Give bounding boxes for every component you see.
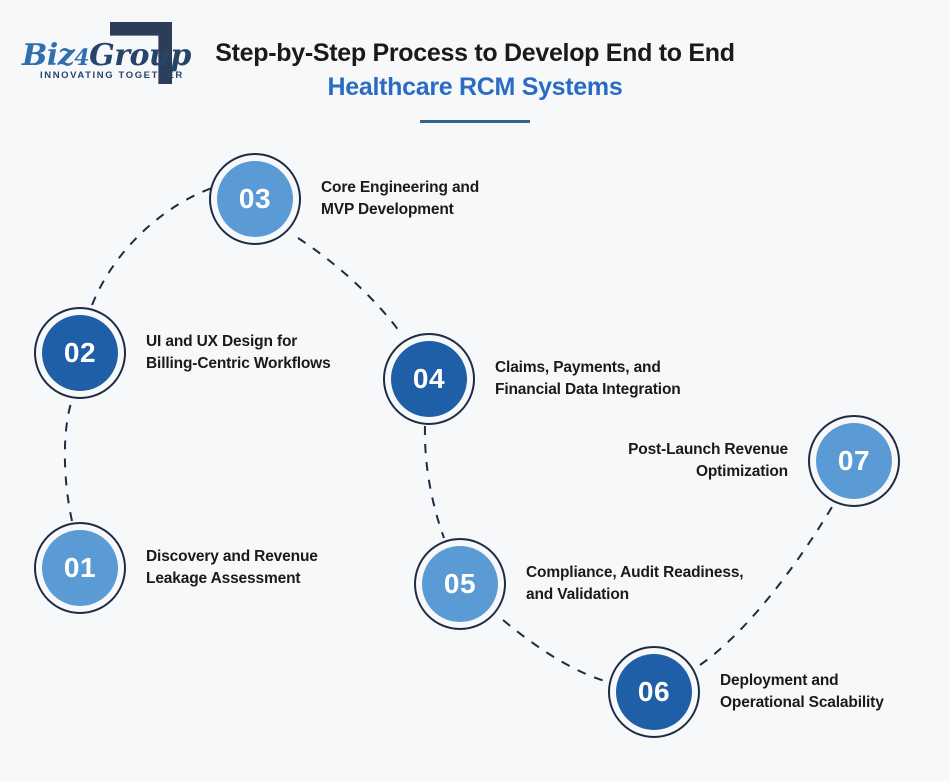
- step-05[interactable]: 05Compliance, Audit Readiness, and Valid…: [414, 538, 743, 630]
- step-circle-07[interactable]: 07: [808, 415, 900, 507]
- step-01[interactable]: 01Discovery and Revenue Leakage Assessme…: [34, 522, 318, 614]
- step-03[interactable]: 03Core Engineering and MVP Development: [209, 153, 479, 245]
- step-number-06: 06: [616, 654, 692, 730]
- step-circle-06[interactable]: 06: [608, 646, 700, 738]
- step-number-07: 07: [816, 423, 892, 499]
- connector-01-to-02: [65, 400, 72, 521]
- step-circle-05[interactable]: 05: [414, 538, 506, 630]
- step-circle-02[interactable]: 02: [34, 307, 126, 399]
- infographic-canvas: Biz4Group INNOVATING TOGETHER Step-by-St…: [0, 0, 950, 781]
- step-label-06: Deployment and Operational Scalability: [720, 670, 884, 714]
- step-04[interactable]: 04Claims, Payments, and Financial Data I…: [383, 333, 681, 425]
- step-label-07: Post-Launch Revenue Optimization: [628, 439, 788, 483]
- step-number-01: 01: [42, 530, 118, 606]
- step-02[interactable]: 02UI and UX Design for Billing-Centric W…: [34, 307, 331, 399]
- step-label-02: UI and UX Design for Billing-Centric Wor…: [146, 331, 331, 375]
- step-07[interactable]: 07Post-Launch Revenue Optimization: [628, 415, 900, 507]
- step-label-05: Compliance, Audit Readiness, and Validat…: [526, 562, 743, 606]
- step-06[interactable]: 06Deployment and Operational Scalability: [608, 646, 884, 738]
- connector-02-to-03: [92, 188, 212, 305]
- step-circle-01[interactable]: 01: [34, 522, 126, 614]
- step-number-02: 02: [42, 315, 118, 391]
- step-label-03: Core Engineering and MVP Development: [321, 177, 479, 221]
- step-number-04: 04: [391, 341, 467, 417]
- step-circle-03[interactable]: 03: [209, 153, 301, 245]
- step-number-03: 03: [217, 161, 293, 237]
- connector-04-to-05: [425, 426, 444, 538]
- step-label-04: Claims, Payments, and Financial Data Int…: [495, 357, 681, 401]
- step-number-05: 05: [422, 546, 498, 622]
- step-label-01: Discovery and Revenue Leakage Assessment: [146, 546, 318, 590]
- step-circle-04[interactable]: 04: [383, 333, 475, 425]
